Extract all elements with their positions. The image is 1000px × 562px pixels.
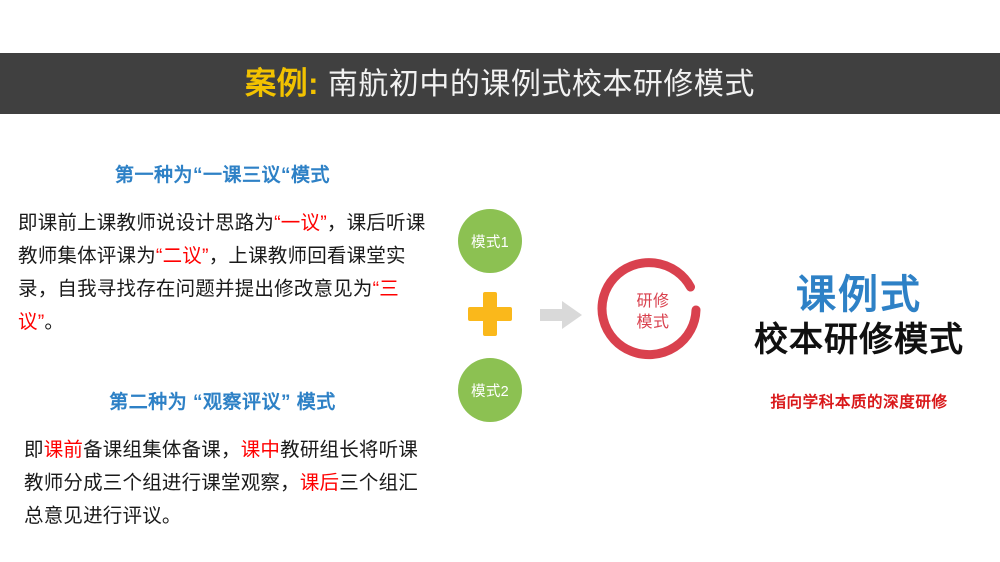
plus-icon (468, 292, 512, 336)
result-title-blue: 课例式 (718, 272, 1000, 318)
s1-text-4: 。 (44, 311, 64, 333)
section-two-heading: 第二种为 “观察评议” 模式 (0, 387, 445, 414)
result-ring-line-1: 研修 (636, 291, 669, 312)
page-title: 案例: 南航初中的课例式校本研修模式 (245, 68, 755, 100)
s2-keyword-2: 课中 (241, 439, 280, 461)
page-title-label: 案例: (245, 68, 319, 99)
section-one-heading: 第一种为“一课三议“模式 (0, 160, 445, 187)
section-one: 第一种为“一课三议“模式 即课前上课教师说设计思路为“一议”，课后听课教师集体评… (0, 160, 445, 339)
mode-1-circle: 模式1 (458, 209, 522, 273)
right-content-column: 课例式 校本研修模式 指向学科本质的深度研修 (718, 272, 1000, 412)
section-two-body: 即课前备课组集体备课，课中教研组长将听课教师分成三个组进行课堂观察，课后三个组汇… (0, 434, 445, 533)
s2-text-1: 即 (24, 439, 44, 461)
result-subtitle: 指向学科本质的深度研修 (718, 390, 1000, 412)
mode-1-label: 模式1 (471, 231, 509, 252)
arrow-right-svg (540, 301, 582, 329)
result-ring: 研修 模式 (597, 258, 707, 366)
s1-text-1: 即课前上课教师说设计思路为 (18, 212, 274, 234)
s1-keyword-1: “一议” (274, 212, 327, 234)
mode-2-label: 模式2 (471, 380, 509, 401)
page-title-text: 南航初中的课例式校本研修模式 (328, 70, 755, 100)
s2-keyword-1: 课前 (44, 439, 83, 461)
left-content-column: 第一种为“一课三议“模式 即课前上课教师说设计思路为“一议”，课后听课教师集体评… (0, 160, 445, 533)
result-title-black: 校本研修模式 (718, 318, 1000, 362)
section-one-body: 即课前上课教师说设计思路为“一议”，课后听课教师集体评课为“二议”，上课教师回看… (0, 207, 445, 339)
s2-keyword-3: 课后 (300, 472, 339, 494)
result-ring-label: 研修 模式 (597, 258, 707, 366)
mode-2-circle: 模式2 (458, 358, 522, 422)
s1-keyword-2: “二议” (156, 245, 209, 267)
process-diagram: 模式1 模式2 研修 模式 (445, 195, 735, 425)
arrow-right-icon (540, 301, 582, 329)
slide-header-band: 案例: 南航初中的课例式校本研修模式 (0, 53, 1000, 114)
result-ring-line-2: 模式 (636, 312, 669, 333)
section-two: 第二种为 “观察评议” 模式 即课前备课组集体备课，课中教研组长将听课教师分成三… (0, 387, 445, 533)
s2-text-2: 备课组集体备课， (83, 439, 241, 461)
